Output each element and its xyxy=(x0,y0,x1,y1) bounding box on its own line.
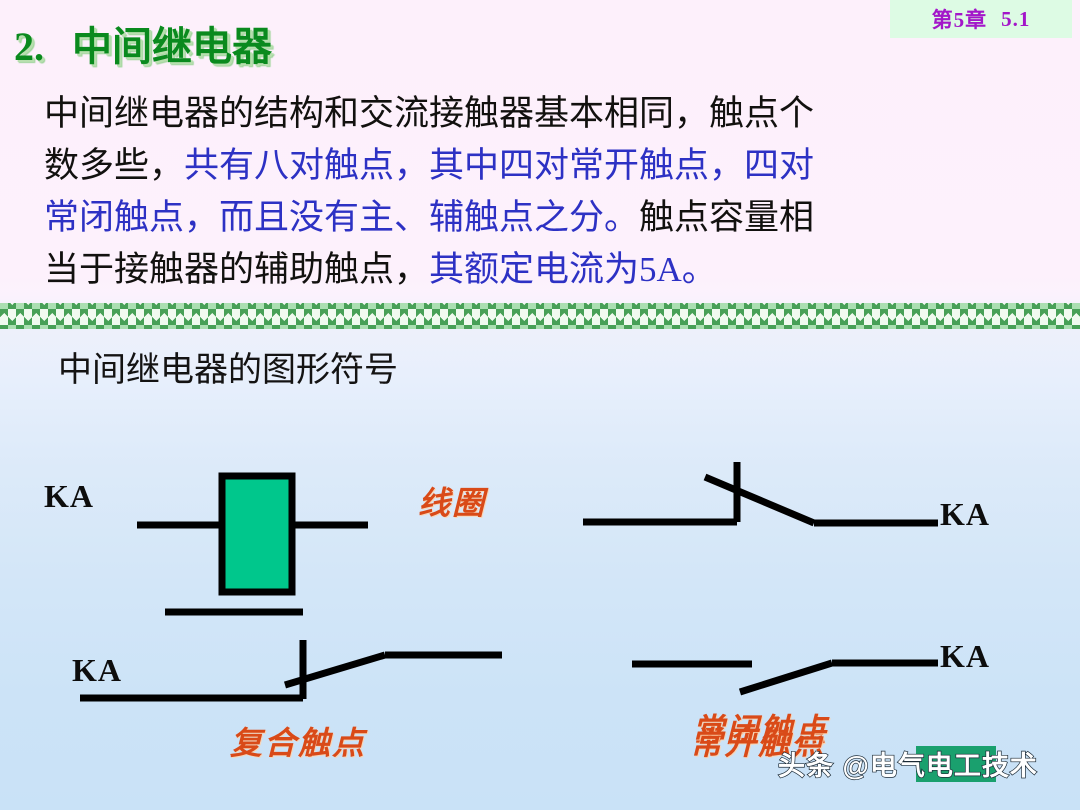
paragraph-line-4: 当于接触器的辅助触点，其额定电流为5A。 xyxy=(44,244,1024,296)
composite-caption: 复合触点 xyxy=(230,718,366,764)
coil-designator: KA xyxy=(44,478,94,515)
chapter-badge-chapter: 第5章 xyxy=(932,4,988,34)
chapter-badge: 第5章 5.1 xyxy=(890,0,1072,38)
page-title-number: 2. xyxy=(14,24,44,69)
body-paragraph: 中间继电器的结构和交流接触器基本相同，触点个数多些，共有八对触点，其中四对常开触… xyxy=(44,88,1024,296)
watermark-text: 头条 @电气电工技术 xyxy=(778,744,1038,783)
coil-caption: 线圈 xyxy=(418,478,486,524)
paragraph-run: 其额定电流为5A。 xyxy=(429,250,717,289)
paragraph-line-1: 中间继电器的结构和交流接触器基本相同，触点个 xyxy=(44,88,1024,140)
zigzag-divider xyxy=(0,303,1080,329)
nc-designator: KA xyxy=(940,496,990,533)
paragraph-run: 触点容量相 xyxy=(639,198,814,237)
section-subheading: 中间继电器的图形符号 xyxy=(58,342,398,391)
nc-blade xyxy=(705,477,814,523)
paragraph-line-3: 常闭触点，而且没有主、辅触点之分。触点容量相 xyxy=(44,192,1024,244)
paragraph-run: 常闭触点，而且没有主、辅触点之分。 xyxy=(44,198,639,237)
no-designator: KA xyxy=(940,638,990,675)
coil-body-rect xyxy=(222,476,292,592)
paragraph-run: 数多些， xyxy=(44,146,184,185)
paragraph-run: 当于接触器的辅助触点， xyxy=(44,250,429,289)
paragraph-line-2: 数多些，共有八对触点，其中四对常开触点，四对 xyxy=(44,140,1024,192)
page-title-text: 中间继电器 xyxy=(72,24,272,69)
paragraph-run: 中间继电器的结构和交流接触器基本相同，触点个 xyxy=(44,94,814,133)
paragraph-run: 共有八对触点，其中四对常开触点，四对 xyxy=(184,146,814,185)
symbol-diagram: KA KA KA KA 线圈 常闭触点 复合触点 常开触点 xyxy=(0,400,1080,770)
slide-canvas: 第5章 5.1 2.中间继电器 中间继电器的结构和交流接触器基本相同，触点个数多… xyxy=(0,0,1080,810)
no-blade xyxy=(740,663,832,692)
page-title: 2.中间继电器 xyxy=(14,14,272,72)
chapter-badge-section: 5.1 xyxy=(1001,7,1030,32)
composite-designator: KA xyxy=(72,652,122,689)
